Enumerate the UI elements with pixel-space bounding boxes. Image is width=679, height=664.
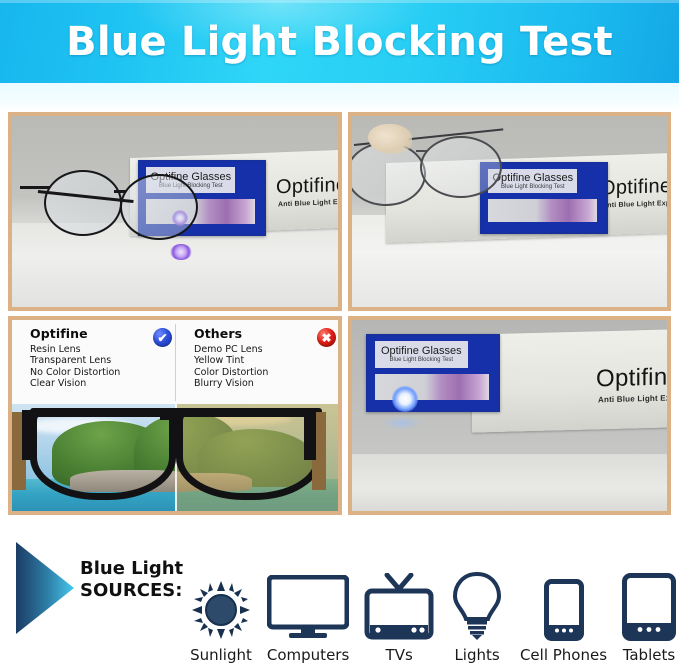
- frame-left-lens: [30, 408, 176, 500]
- comparison-feature: Resin Lens: [30, 344, 178, 355]
- panel-desk-surface: [352, 454, 667, 511]
- source-item-tablets: Tablets: [622, 573, 676, 664]
- page-title: Blue Light Blocking Test: [66, 19, 613, 65]
- comparison-text-area: Optifine Resin Lens Transparent Lens No …: [12, 320, 338, 404]
- eyeglasses: [36, 168, 216, 236]
- lens-comparison-photo: [12, 404, 338, 511]
- eyeglasses-right-lens: [420, 136, 502, 198]
- product-box-tagline: Anti Blue Light Expert: [278, 198, 342, 208]
- blue-test-card: Optifine Glasses Blue Light Blocking Tes…: [366, 334, 500, 412]
- source-item-cell-phones: Cell Phones: [520, 573, 607, 664]
- eyeglasses-overlay: [12, 404, 338, 511]
- banner-underlay: [0, 83, 679, 111]
- panel-top-right: Optifine Anti Blue Light Expert Optifine…: [348, 112, 671, 311]
- sources-title-line1: Blue Light: [80, 558, 183, 580]
- source-item-tvs: TVs: [364, 573, 434, 664]
- comparison-feature: No Color Distortion: [30, 367, 178, 378]
- panel-bottom-left: Optifine Resin Lens Transparent Lens No …: [8, 316, 342, 515]
- test-card-header: Optifine Glasses Blue Light Blocking Tes…: [375, 341, 469, 368]
- eyeglasses-temple-arm-2: [20, 186, 50, 189]
- eyeglasses-bridge: [114, 190, 126, 193]
- tablet-icon: [622, 573, 676, 641]
- comparison-feature: Yellow Tint: [194, 355, 342, 366]
- frame-right-lens: [176, 408, 322, 500]
- check-icon: ✔: [153, 328, 172, 347]
- source-label-tvs: TVs: [386, 646, 413, 664]
- product-box-brand: Optifine: [600, 175, 671, 200]
- uv-dot-on-desk: [170, 244, 192, 260]
- sources-title-line2: SOURCES:: [80, 580, 183, 602]
- header-banner: Blue Light Blocking Test: [0, 0, 679, 83]
- led-reflection: [382, 416, 422, 430]
- product-box: Optifine Anti Blue Light Expert: [472, 329, 671, 432]
- monitor-icon: [267, 573, 349, 641]
- eyeglasses-left-lens: [44, 170, 122, 236]
- comparison-feature: Blurry Vision: [194, 378, 342, 389]
- test-card-title: Optifine Glasses: [381, 345, 462, 357]
- cross-icon: ✖: [317, 328, 336, 347]
- lightbulb-icon: [449, 573, 505, 641]
- source-label-computers: Computers: [267, 646, 349, 664]
- source-label-sunlight: Sunlight: [190, 646, 252, 664]
- product-box-tagline: Anti Blue Light Expert: [598, 393, 671, 404]
- test-card-subtitle: Blue Light Blocking Test: [389, 357, 453, 363]
- product-box-tagline: Anti Blue Light Expert: [602, 200, 671, 210]
- frame-left-hinge: [22, 410, 34, 460]
- source-label-tablets: Tablets: [623, 646, 676, 664]
- comparison-column-others: Others Demo PC Lens Yellow Tint Color Di…: [194, 326, 342, 390]
- source-label-lights: Lights: [454, 646, 499, 664]
- product-box-brand: Optifine: [596, 363, 671, 393]
- eyeglasses-right-lens: [120, 174, 198, 240]
- sources-title: Blue Light SOURCES:: [80, 558, 183, 602]
- sources-icons-row: Sunlight Computers: [190, 536, 676, 664]
- photo-grid: Optifine Anti Blue Light Expert Optifine…: [8, 112, 671, 515]
- smartphone-icon: [544, 573, 584, 641]
- panel-top-left: Optifine Anti Blue Light Expert Optifine…: [8, 112, 342, 311]
- source-item-lights: Lights: [449, 573, 505, 664]
- comparison-feature: Clear Vision: [30, 378, 178, 389]
- television-icon: [364, 573, 434, 641]
- product-box-brand: Optifine: [276, 174, 342, 200]
- led-glow: [392, 386, 418, 412]
- comparison-feature: Color Distortion: [194, 367, 342, 378]
- sun-icon: [190, 573, 252, 641]
- panel-bottom-right: Optifine Anti Blue Light Expert Optifine…: [348, 316, 671, 515]
- comparison-feature: Transparent Lens: [30, 355, 178, 366]
- comparison-feature: Demo PC Lens: [194, 344, 342, 355]
- source-item-sunlight: Sunlight: [190, 573, 252, 664]
- comparison-column-optifine: Optifine Resin Lens Transparent Lens No …: [30, 326, 178, 390]
- frame-bridge: [160, 412, 180, 420]
- blue-light-sources-section: Blue Light SOURCES:: [0, 518, 679, 664]
- source-label-cell-phones: Cell Phones: [520, 646, 607, 664]
- source-item-computers: Computers: [267, 573, 349, 664]
- frame-right-hinge: [304, 410, 316, 460]
- eyeglasses-bridge: [416, 150, 428, 152]
